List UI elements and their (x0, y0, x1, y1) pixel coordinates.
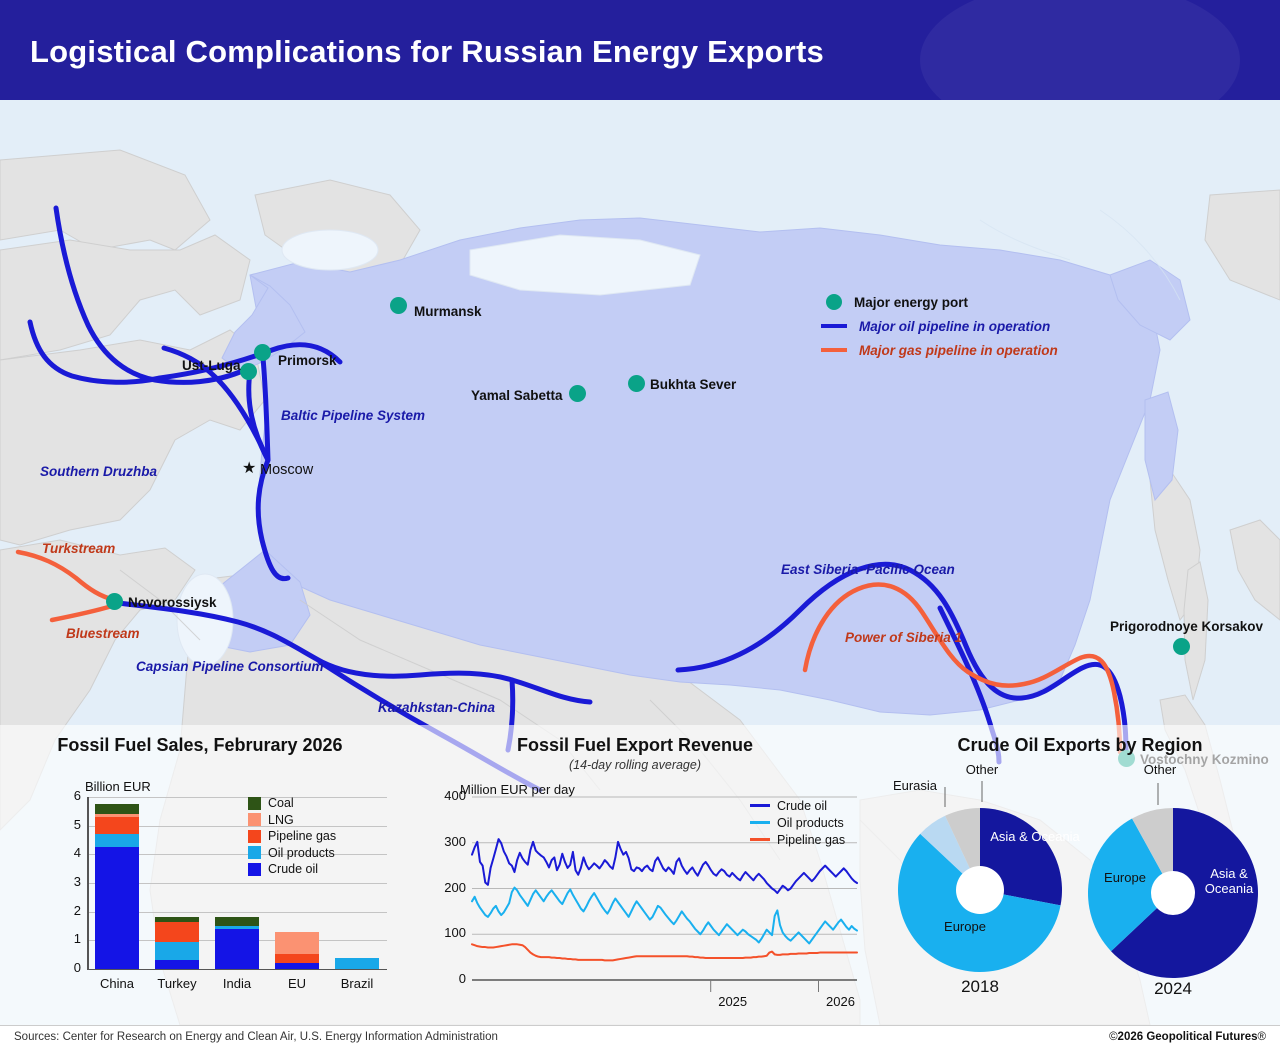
bar-segment-pipeline-gas (155, 922, 198, 942)
legend-label: Crude oil (268, 862, 318, 876)
pipeline-label-east-siberia-pacific-ocean: East Siberia−Pacific Ocean (781, 562, 955, 577)
legend-item-port: Major energy port (826, 290, 1058, 314)
bar-segment-oil-products (215, 926, 258, 929)
bar-segment-crude-oil (275, 963, 318, 969)
legend-label: Coal (268, 796, 294, 810)
bar-segment-crude-oil (215, 929, 258, 969)
port-dot-icon (826, 294, 842, 310)
bar-segment-oil-products (95, 834, 138, 847)
port-marker-prigorodnoye-korsakov[interactable] (1173, 638, 1190, 655)
gas-pipeline-line-icon (821, 348, 847, 352)
header-decoration (920, 0, 1240, 100)
line-chart-svg (420, 735, 880, 1010)
legend-label: Crude oil (777, 799, 827, 813)
bar-category-label: Turkey (147, 976, 207, 991)
bar-y-tick: 3 (53, 874, 81, 889)
bar-segment-lng (275, 932, 318, 954)
bar-segment-lng (95, 814, 138, 817)
port-label-murmansk: Murmansk (414, 304, 482, 319)
legend-label: Pipeline gas (777, 833, 845, 847)
bar-y-tick: 6 (53, 788, 81, 803)
legend-swatch (248, 863, 261, 876)
infographic-root: Logistical Complications for Russian Ene… (0, 0, 1280, 1050)
bar-segment-pipeline-gas (275, 954, 318, 963)
pie-label-2024-other: Other (1125, 763, 1195, 778)
bar-column[interactable] (95, 797, 138, 969)
footer-copyright-text: 2026 Geopolitical Futures (1118, 1031, 1258, 1043)
pie-label-2024-asia-oceania: Asia & Oceania (1185, 867, 1273, 897)
legend-label: Oil products (268, 846, 335, 860)
legend-line-swatch (750, 838, 770, 841)
bar-segment-coal (155, 917, 198, 922)
line-legend-item: Oil products (750, 814, 845, 831)
line-chart-legend: Crude oilOil productsPipeline gas (750, 797, 845, 848)
pipeline-label-southern-druzhba: Southern Druzhba (40, 464, 157, 479)
bar-plot-area: 0123456ChinaTurkeyIndiaEUBrazil (30, 735, 420, 1000)
port-marker-murmansk[interactable] (390, 297, 407, 314)
legend-item-gas-pipeline: Major gas pipeline in operation (826, 338, 1058, 362)
legend-line-swatch (750, 804, 770, 807)
legend-swatch (248, 830, 261, 843)
line-x-tick: 2025 (703, 994, 763, 1009)
bar-column[interactable] (335, 797, 378, 969)
pipeline-label-bluestream: Bluestream (66, 626, 140, 641)
chart-fossil-fuel-sales: Fossil Fuel Sales, Februrary 2026 Billio… (30, 735, 420, 1000)
capital-label-moscow: Moscow (260, 462, 313, 478)
copyright-symbol-icon: © (1109, 1031, 1117, 1043)
pie-year-2018: 2018 (920, 977, 1040, 997)
chart-crude-oil-exports-by-region: Crude Oil Exports by Region EurasiaOther… (885, 735, 1275, 1005)
footer-copyright: ©2026 Geopolitical Futures® (1109, 1031, 1266, 1043)
bar-legend-item: Pipeline gas (248, 828, 336, 845)
bar-segment-oil-products (155, 942, 198, 961)
line-series-oil-products (472, 888, 857, 944)
port-marker-yamal-sabetta[interactable] (569, 385, 586, 402)
bar-segment-oil-products (335, 958, 378, 969)
bar-y-tick: 4 (53, 845, 81, 860)
bar-segment-crude-oil (95, 847, 138, 969)
line-x-tick: 2026 (811, 994, 871, 1009)
bar-category-label: China (87, 976, 147, 991)
port-label-ust-luga: Ust-Luga (182, 358, 241, 373)
bar-segment-coal (215, 917, 258, 926)
pie-label-2024-europe: Europe (1090, 871, 1160, 886)
bar-category-label: EU (267, 976, 327, 991)
legend-line-swatch (750, 821, 770, 824)
port-label-novorossiysk: Novorossiysk (128, 595, 217, 610)
legend-label: LNG (268, 813, 294, 827)
port-marker-bukhta-sever[interactable] (628, 375, 645, 392)
legend-swatch (248, 846, 261, 859)
line-series-pipeline-gas (472, 944, 857, 960)
port-label-bukhta-sever: Bukhta Sever (650, 377, 736, 392)
legend-label: Oil products (777, 816, 844, 830)
bar-segment-crude-oil (155, 960, 198, 969)
bar-y-tick: 1 (53, 931, 81, 946)
port-label-prigorodnoye-korsakov: Prigorodnoye Korsakov (1110, 619, 1263, 634)
bar-y-tick: 5 (53, 817, 81, 832)
pie-label-2018-other: Other (947, 763, 1017, 778)
bar-y-tick: 2 (53, 903, 81, 918)
registered-symbol-icon: ® (1258, 1031, 1266, 1043)
legend-swatch (248, 813, 261, 826)
pie-label-2018-asia-oceania: Asia & Oceania (990, 830, 1080, 845)
footer-sources: Sources: Center for Research on Energy a… (14, 1031, 498, 1043)
pie-label-2018-eurasia: Eurasia (880, 779, 950, 794)
port-marker-primorsk[interactable] (254, 344, 271, 361)
port-marker-ust-luga[interactable] (240, 363, 257, 380)
legend-label-port: Major energy port (854, 295, 968, 310)
bar-segment-coal (95, 804, 138, 814)
legend-item-oil-pipeline: Major oil pipeline in operation (826, 314, 1058, 338)
bar-gridline (87, 969, 387, 970)
bar-legend-item: LNG (248, 812, 336, 829)
pie-plot-area: EurasiaOtherAsia & OceaniaEuropeOtherAsi… (885, 735, 1275, 1005)
port-marker-novorossiysk[interactable] (106, 593, 123, 610)
header-bar: Logistical Complications for Russian Ene… (0, 0, 1280, 100)
pie-label-2018-europe: Europe (925, 920, 1005, 935)
bar-legend-item: Crude oil (248, 861, 336, 878)
legend-swatch (248, 797, 261, 810)
page-title: Logistical Complications for Russian Ene… (30, 34, 824, 70)
bar-y-axis (87, 797, 89, 969)
legend-label-gas-pipeline: Major gas pipeline in operation (859, 343, 1058, 358)
bar-chart-legend: CoalLNGPipeline gasOil productsCrude oil (248, 795, 336, 878)
capital-star-icon: ★ (242, 458, 256, 478)
port-label-primorsk: Primorsk (278, 353, 337, 368)
pie-year-2024: 2024 (1113, 979, 1233, 999)
pipeline-label-kazahkstan-china: Kazahkstan-China (378, 700, 495, 715)
bar-legend-item: Oil products (248, 845, 336, 862)
pipeline-label-caspian-pipeline-consortium: Capsian Pipeline Consortium (136, 659, 261, 675)
port-label-yamal-sabetta: Yamal Sabetta (471, 388, 563, 403)
oil-pipeline-line-icon (821, 324, 847, 328)
bar-category-label: India (207, 976, 267, 991)
pipeline-label-baltic-pipeline-system: Baltic Pipeline System (281, 408, 377, 424)
bar-segment-pipeline-gas (95, 817, 138, 834)
pipeline-label-turkstream: Turkstream (42, 541, 115, 556)
bar-legend-item: Coal (248, 795, 336, 812)
pipeline-label-power-of-siberia-1: Power of Siberia 1 (845, 630, 962, 645)
line-plot-area: 010020030040020252026 (420, 735, 880, 1010)
chart-fossil-fuel-export-revenue: Fossil Fuel Export Revenue (14-day rolli… (420, 735, 880, 1010)
footer-bar: Sources: Center for Research on Energy a… (0, 1025, 1280, 1050)
legend-label-oil-pipeline: Major oil pipeline in operation (859, 319, 1050, 334)
pie-center-hole (956, 866, 1004, 914)
line-legend-item: Pipeline gas (750, 831, 845, 848)
bar-category-label: Brazil (327, 976, 387, 991)
bar-column[interactable] (155, 797, 198, 969)
line-legend-item: Crude oil (750, 797, 845, 814)
bar-y-tick: 0 (53, 960, 81, 975)
map-legend: Major energy port Major oil pipeline in … (826, 290, 1058, 362)
legend-label: Pipeline gas (268, 829, 336, 843)
